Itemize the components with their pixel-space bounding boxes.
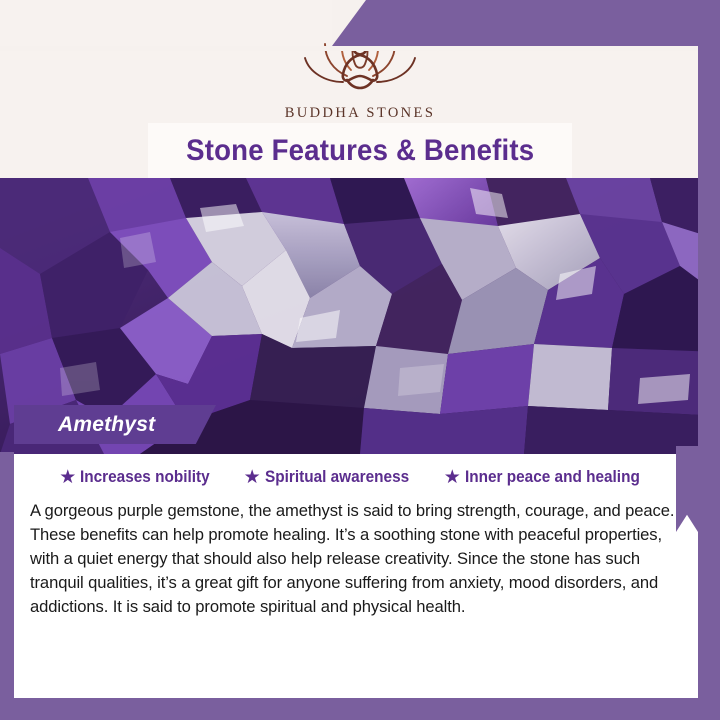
frame-band-right — [698, 0, 720, 720]
frame-band-bottom — [0, 698, 720, 720]
benefits-row: ★ Increases nobility ★ Spiritual awarene… — [14, 454, 698, 487]
stone-name-bar: Amethyst — [14, 405, 216, 444]
frame-band-top — [332, 0, 720, 46]
frame-hairline — [0, 46, 698, 51]
benefit-label: Spiritual awareness — [265, 468, 409, 487]
stone-name-label: Amethyst — [58, 413, 155, 437]
title-panel: Stone Features & Benefits — [148, 123, 572, 178]
page-title: Stone Features & Benefits — [186, 134, 534, 168]
brand-name: BUDDHA STONES — [0, 105, 720, 122]
frame-band-left — [0, 452, 14, 720]
benefit-item: ★ Increases nobility — [59, 468, 219, 487]
stone-features-card: BUDDHA STONES Stone Features & Benefits — [0, 0, 720, 720]
benefit-label: Increases nobility — [80, 468, 210, 487]
star-icon: ★ — [244, 468, 261, 487]
benefit-label: Inner peace and healing — [465, 468, 640, 487]
benefit-item: ★ Spiritual awareness — [244, 468, 420, 487]
benefit-item: ★ Inner peace and healing — [444, 468, 653, 487]
star-icon: ★ — [444, 468, 461, 487]
content-card: ★ Increases nobility ★ Spiritual awarene… — [14, 454, 698, 698]
star-icon: ★ — [59, 468, 76, 487]
stone-description: A gorgeous purple gemstone, the amethyst… — [30, 499, 682, 618]
